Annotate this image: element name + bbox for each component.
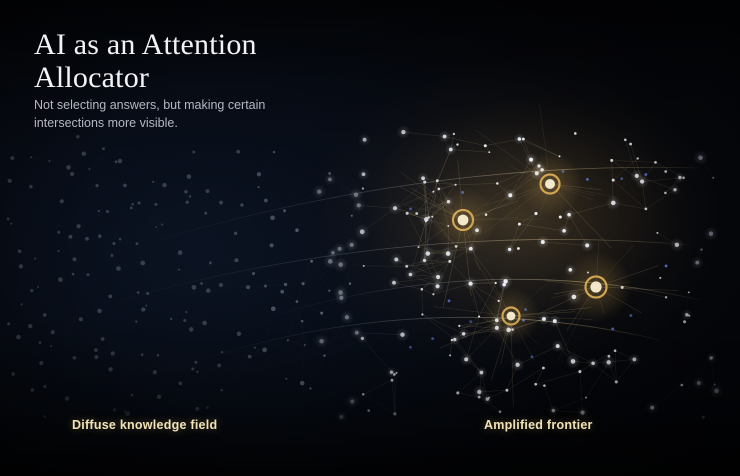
attention-allocator-visual: AI as an Attention Allocator Not selecti… xyxy=(0,0,740,476)
page-title: AI as an Attention Allocator xyxy=(34,28,454,94)
legend-label-diffuse-field: Diffuse knowledge field xyxy=(72,418,217,432)
page-subtitle: Not selecting answers, but making certai… xyxy=(34,96,334,132)
legend-label-amplified-frontier: Amplified frontier xyxy=(484,418,593,432)
